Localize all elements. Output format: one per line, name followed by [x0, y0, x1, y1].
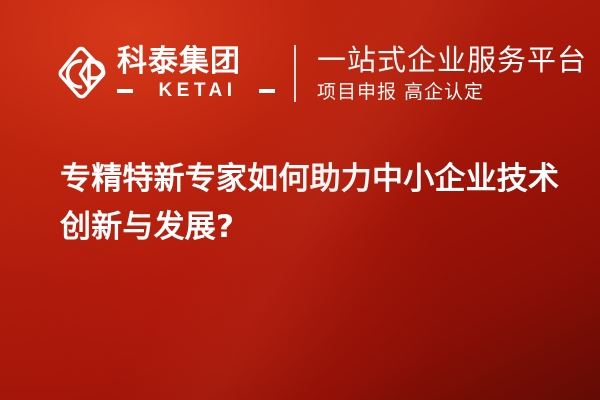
page-title: 专精特新专家如何助力中小企业技术创新与发展? [60, 155, 560, 251]
dash-right-icon [259, 89, 275, 93]
brand-name-en-row: KETAI [117, 81, 275, 101]
header-tagline: 一站式企业服务平台 项目申报 高企认定 [317, 43, 587, 104]
brand-name-cn: 科泰集团 [117, 46, 275, 78]
tagline-secondary: 项目申报 高企认定 [317, 80, 587, 104]
header-divider [294, 45, 296, 102]
promo-banner: 科泰集团 KETAI 一站式企业服务平台 项目申报 高企认定 专精特新专家如何助… [0, 0, 600, 400]
brand-name-en: KETAI [133, 81, 259, 101]
banner-header: 科泰集团 KETAI 一站式企业服务平台 项目申报 高企认定 [58, 40, 587, 106]
brand-wordmark: 科泰集团 KETAI [117, 46, 275, 101]
brand-logo[interactable]: 科泰集团 KETAI [58, 45, 275, 101]
tagline-primary: 一站式企业服务平台 [317, 43, 587, 77]
dash-left-icon [117, 89, 133, 93]
ketai-diamond-kp-logo-icon [58, 45, 108, 101]
